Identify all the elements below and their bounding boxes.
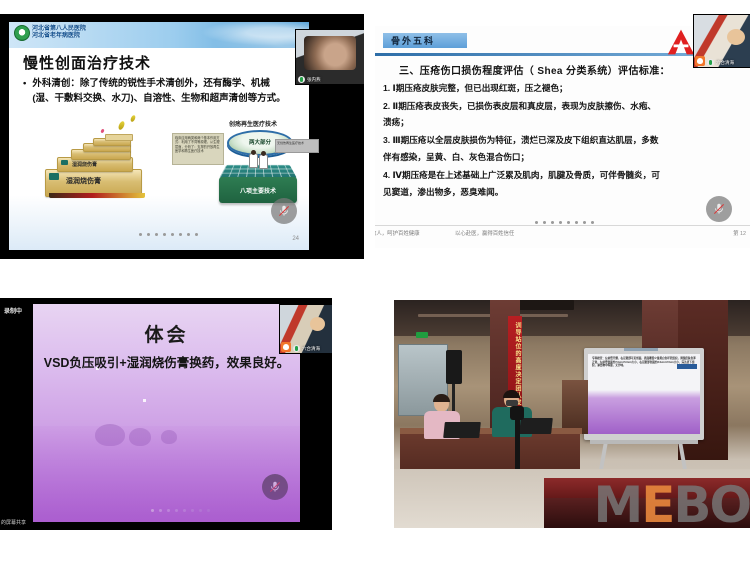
participant-name-badge: 六合清海 <box>293 345 320 352</box>
progress-dot <box>139 233 142 236</box>
footer-left-text: 救人，呵护百姓健康 <box>375 229 420 237</box>
tree-silhouette <box>95 424 125 446</box>
participant-name: 六合清海 <box>716 60 734 66</box>
progress-dot <box>207 509 210 512</box>
mic-active-icon <box>293 345 300 352</box>
footer-center-text: 以心赴医，赢得百姓信任 <box>455 229 514 237</box>
participant-face <box>310 317 325 331</box>
panel-bottom-right-photo: 训导站位的高度决定团队发展 专科检查：左前臂尺侧，右足跟部可见创面，表面覆盖少量… <box>394 300 750 528</box>
slide-line-5: 伴有感染，呈黄、白、灰色混合伤口； <box>383 151 735 164</box>
slide-heading: 三、压疮伤口损伤程度评估（ Shea 分类系统）评估标准： <box>399 62 729 77</box>
participant-name-badge: 张内燕 <box>298 76 321 83</box>
slide-line-6: 4. Ⅳ期压疮是在上述基础上广泛累及肌肉，肌腱及骨质，可伴骨髓炎，可 <box>383 169 735 182</box>
laptop <box>443 422 481 438</box>
slide-chronic-wound: 河北省第八人民医院 河北省老年病医院 慢性创面治疗技术 • 外科清创：除了传统的… <box>9 22 309 250</box>
mic-active-icon <box>298 76 305 83</box>
person-hair <box>503 390 520 398</box>
stack-base-stripe <box>49 193 145 198</box>
slide-line-1: 1. Ⅰ期压疮皮肤完整，但已出现红斑，压之褪色； <box>383 82 735 95</box>
mic-glyph <box>268 480 282 494</box>
mebo-watermark: MEBO <box>593 480 750 528</box>
slide-line-7: 见窦道，渗出物多，恶臭难闻。 <box>383 186 735 199</box>
progress-dot <box>147 233 150 236</box>
slide-line-2: 2. Ⅱ期压疮表皮丧失，已损伤表皮层和真皮层，表现为皮肤擦伤、水疱、 <box>383 100 735 113</box>
slide-title: 体会 <box>33 320 300 347</box>
progress-dot <box>575 221 578 224</box>
progress-dot <box>175 509 178 512</box>
participant-video-thumbnail[interactable]: 六合清海 <box>693 14 750 68</box>
leaf-spark-icon <box>117 120 125 130</box>
mic-muted-icon[interactable] <box>262 474 288 500</box>
doctor-figures-icon <box>249 153 271 167</box>
speaker <box>446 350 462 384</box>
hospital-emblem-icon <box>14 25 30 41</box>
product-box-label: 湿润烧伤膏 <box>66 176 101 186</box>
slide-progress-dots <box>535 221 594 224</box>
screenshot-root: 河北省第八人民医院 河北省老年病医院 慢性创面治疗技术 • 外科清创：除了传统的… <box>0 0 750 562</box>
watermark-letter-m: M <box>593 476 641 528</box>
progress-dot <box>151 509 154 512</box>
slide-subtitle: VSD负压吸引+湿润烧伤膏换药，效果良好。 <box>33 352 300 371</box>
sparkle-icon <box>143 399 146 402</box>
projection-screen-content: 专科检查：左前臂尺侧，右足跟部可见创面，表面覆盖少量黄白色坏死组织，周围皮肤色泽… <box>588 354 700 434</box>
progress-dot <box>183 509 186 512</box>
participant-name: 六合清海 <box>302 346 320 352</box>
progress-dot <box>179 233 182 236</box>
participant-face <box>727 29 745 45</box>
progress-dot <box>163 233 166 236</box>
infographic-platform-label: 八项主要技术 <box>219 186 297 195</box>
avatar-badge-icon <box>281 342 291 352</box>
progress-dot <box>171 233 174 236</box>
progress-dot <box>199 509 202 512</box>
progress-dot <box>559 221 562 224</box>
participant-name: 张内燕 <box>307 77 321 83</box>
product-box-small-4 <box>105 134 133 141</box>
projection-screen-frame: 专科检查：左前臂尺侧，右足跟部可见创面，表面覆盖少量黄白色坏死组织，周围皮肤色泽… <box>584 348 704 440</box>
progress-dot <box>155 233 158 236</box>
participant-name-badge: 六合清海 <box>707 59 734 66</box>
screen-top-bar <box>624 348 658 351</box>
infographic-title: 创疡再生医疗技术 <box>229 119 277 128</box>
dot-spark-icon <box>100 129 104 134</box>
exit-sign-icon <box>416 332 428 338</box>
slide-artwork: 湿润烧伤膏 湿润烧伤膏 临床应用两类和两个基本作用方式：利用了不同等原理 <box>17 117 301 217</box>
footer-page-number: 第 12 <box>733 229 746 237</box>
progress-dot <box>191 509 194 512</box>
slide-line-4: 3. Ⅲ期压疮以全层皮肤损伤为特征，溃烂已深及皮下组织直达肌层，多数 <box>383 134 735 147</box>
screen-share-label: 的屏幕共享 <box>1 519 26 526</box>
progress-dot <box>167 509 170 512</box>
mic-muted-icon[interactable] <box>706 196 732 222</box>
side-tag-note: 无创伤再生医疗技术 <box>275 139 319 153</box>
doctor-figure-icon <box>249 153 258 168</box>
hospital-name-line2: 河北省老年病医院 <box>32 33 86 40</box>
panel-top-left-webinar: 河北省第八人民医院 河北省老年病医院 慢性创面治疗技术 • 外科清创：除了传统的… <box>0 14 364 259</box>
hospital-logo-text: 河北省第八人民医院 河北省老年病医院 <box>32 26 86 40</box>
leaf-spark-icon <box>130 114 137 122</box>
slide-footer: 救人，呵护百姓健康 以心赴医，赢得百姓信任 第 12 <box>375 225 750 244</box>
podium <box>562 380 588 434</box>
avatar-badge-icon <box>695 56 705 66</box>
progress-dot <box>543 221 546 224</box>
progress-dot <box>583 221 586 224</box>
slide-progress-dots <box>151 509 210 512</box>
box-logo-icon <box>61 160 68 165</box>
participant-video-thumbnail[interactable]: 张内燕 <box>295 29 364 85</box>
watermark-letter-e: E <box>641 476 673 528</box>
slide-experience: 体会 VSD负压吸引+湿润烧伤膏换药，效果良好。 <box>33 304 300 522</box>
product-box-label-small: 湿润烧伤膏 <box>72 161 97 168</box>
bullet-text: 外科清创：除了传统的锐性手术清创外，还有酶学、机械(湿、干敷料交换、水刀)、自溶… <box>32 76 291 106</box>
slide-line-3: 溃疡； <box>383 116 735 129</box>
screen-blue-tag <box>677 364 697 369</box>
participant-video-thumbnail[interactable]: 六合清海 <box>279 304 332 354</box>
mic-glyph <box>712 202 726 216</box>
conference-room-photograph: 训导站位的高度决定团队发展 专科检查：左前臂尺侧，右足跟部可见创面，表面覆盖少量… <box>394 300 750 528</box>
slide-bullet: • 外科清创：除了传统的锐性手术清创外，还有酶学、机械(湿、干敷料交换、水刀)、… <box>23 76 291 106</box>
progress-dot <box>195 233 198 236</box>
progress-dot <box>535 221 538 224</box>
doctor-figure-icon <box>259 154 268 169</box>
recording-indicator-label: 录制中 <box>4 306 22 315</box>
department-tag: 骨外五科 <box>383 33 467 48</box>
tree-silhouette <box>129 428 151 446</box>
panel-top-right-webinar: 骨外五科 三、压疮伤口损伤程度评估（ Shea 分类系统）评估标准： 1. Ⅰ期… <box>375 14 750 262</box>
hospital-name-line1: 河北省第八人民医院 <box>32 26 86 33</box>
participant-face <box>304 36 356 70</box>
slide-progress-dots <box>139 233 198 236</box>
slide-page-number: 24 <box>292 236 299 242</box>
box-logo-icon <box>49 173 59 180</box>
slide-title: 慢性创面治疗技术 <box>23 52 151 73</box>
camera-head-icon <box>510 406 524 420</box>
watermark-letters-bo: BO <box>673 476 750 528</box>
progress-dot <box>159 509 162 512</box>
bullet-marker-icon: • <box>23 76 26 106</box>
mic-glyph <box>277 204 291 218</box>
product-box-stack: 湿润烧伤膏 湿润烧伤膏 <box>45 135 165 197</box>
hospital-logo: 河北省第八人民医院 河北省老年病医院 <box>14 25 86 41</box>
progress-dot <box>551 221 554 224</box>
mic-muted-icon[interactable] <box>271 198 297 224</box>
panel-bottom-left-webinar: 录制中 的屏幕共享 体会 VSD负压吸引+湿润烧伤膏换药，效果良好。 <box>0 298 332 530</box>
progress-dot <box>187 233 190 236</box>
progress-dot <box>591 221 594 224</box>
mic-active-icon <box>707 59 714 66</box>
tree-silhouette <box>161 430 177 444</box>
progress-dot <box>567 221 570 224</box>
person-hair <box>433 394 450 402</box>
